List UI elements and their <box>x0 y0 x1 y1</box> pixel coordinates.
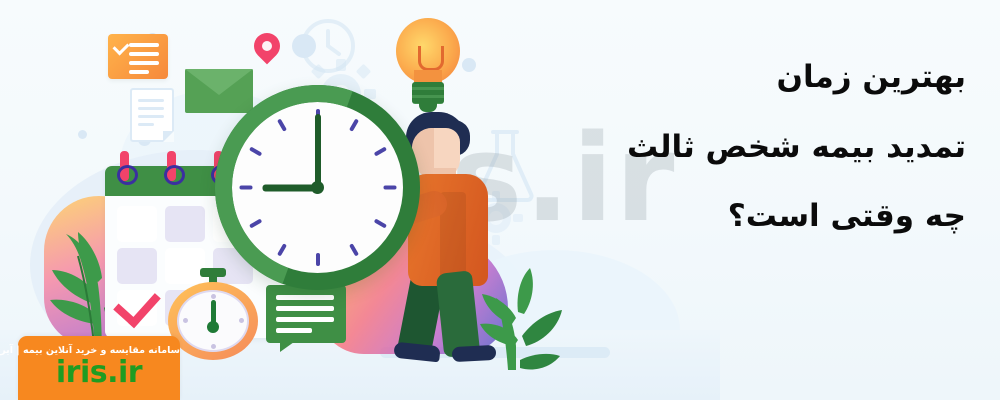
decorative-dot <box>292 34 316 58</box>
clock-minute-hand <box>315 114 321 188</box>
headline-line-3: چه وقتی است؟ <box>546 201 966 233</box>
calendar-cell <box>117 248 157 284</box>
checklist-card-icon <box>108 34 168 79</box>
decorative-dot <box>78 130 87 139</box>
iris-logo-badge[interactable]: سامانه مقایسه و خرید آنلاین بیمه | آیریس… <box>18 336 180 400</box>
badge-tagline: سامانه مقایسه و خرید آنلاین بیمه | آیریس <box>18 336 180 356</box>
calendar-ring <box>167 151 176 181</box>
headline-line-2: تمدید بیمه شخص ثالث <box>546 132 966 164</box>
calendar-cell <box>117 206 157 242</box>
wall-clock <box>215 85 420 290</box>
shoe <box>393 342 440 363</box>
location-pin-icon <box>254 33 280 69</box>
calendar-cell <box>165 206 205 242</box>
badge-brand: iris.ir <box>18 358 180 388</box>
headline-line-1: بهترین زمان <box>546 62 966 94</box>
document-sheet-icon <box>130 88 174 142</box>
banner: iris.ir <box>0 0 1000 400</box>
leaf-plants <box>470 250 580 360</box>
clock-hour-hand <box>263 184 318 191</box>
headline: بهترین زمان تمدید بیمه شخص ثالث چه وقتی … <box>546 62 966 233</box>
message-card-icon <box>266 285 346 343</box>
decorative-dot <box>462 58 476 72</box>
calendar-ring <box>120 151 129 181</box>
